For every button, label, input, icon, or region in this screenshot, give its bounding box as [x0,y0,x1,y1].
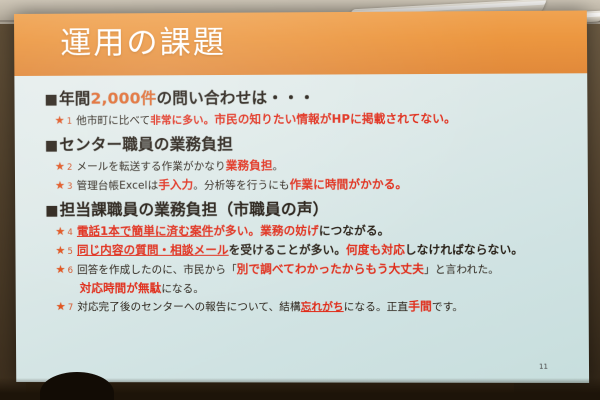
list-item: ★ 1 他市町に比べて非常に多い。市民の知りたい情報がHPに掲載されてない。 [55,110,578,130]
text-run-emphasis: 別で調べてわかったからもう大丈夫 [237,262,424,276]
text-run: につながる。 [319,223,390,237]
heading-part: 担当課職員の業務負担（市職員の声） [60,200,329,219]
bullet-index: 2 [67,160,73,176]
text-run-emphasis: 対応時間が無駄 [80,281,162,295]
bullet-index: 6 [68,263,74,279]
text-run: 対応完了後のセンターへの報告について、結構 [77,301,300,313]
text-run: 回答を作成したのに、市民から「 [77,264,237,276]
square-bullet-icon: ■ [44,92,58,108]
text-run-emphasis: 手間 [408,299,432,313]
bullet-text: 管理台帳Excelは手入力。分析等を行うにも作業に時間がかかる。 [77,176,408,194]
square-bullet-icon: ■ [45,138,59,154]
list-item: ★ 4 電話1本で簡単に済む案件が多い。業務の妨げにつながる。 [55,222,578,241]
star-icon: ★ [55,243,65,259]
text-run-emphasis: が多い。 [213,224,260,238]
star-icon: ★ [56,262,66,278]
section-heading: ■担当課職員の業務負担（市職員の声） [45,198,578,222]
bullet-text: 同じ内容の質問・相談メールを受けることが多い。何度も対応しなければならない。 [77,241,523,258]
text-run: しなければならない。 [405,242,523,256]
list-item: ★ 2 メールを転送する作業がかなり業務負担。 [55,156,578,176]
star-icon: ★ [55,159,65,175]
list-item: ★ 5 同じ内容の質問・相談メールを受けることが多い。何度も対応しなければならな… [55,241,578,260]
list-item: ★ 7 対応完了後のセンターへの報告について、結構忘れがちになる。正直手間です。 [56,298,579,316]
text-run-emphasis: 手入力 [158,178,193,192]
text-run: 」と言われた。 [424,264,499,276]
list-item-continuation: 対応時間が無駄になる。 [80,280,579,297]
text-run-emphasis: 何度も対応 [346,243,405,257]
heading-part: センター職員の業務負担 [59,135,233,154]
bullet-index: 1 [67,114,73,130]
list-item: ★ 6 回答を作成したのに、市民から「別で調べてわかったからもう大丈夫」と言われ… [56,261,579,279]
section-heading: ■センター職員の業務負担 [45,132,578,157]
star-icon: ★ [56,299,66,315]
text-run-emphasis: 市民の知りたい情報がHPに掲載されてない。 [214,111,456,126]
bullet-text: 他市町に比べて非常に多い。市民の知りたい情報がHPに掲載されてない。 [76,110,456,129]
section-heading: ■年間2,000件の問い合わせは・・・ [44,85,577,110]
text-run: を受けることが多い。 [229,243,346,257]
slide-body: 運用の課題 ■年間2,000件の問い合わせは・・・ ★ 1 他市町に比べて非常に… [14,11,589,384]
text-run-emphasis: 業務負担 [226,158,273,172]
text-run-emphasis: 業務の妨げ [260,224,319,238]
bullet-text: 回答を作成したのに、市民から「別で調べてわかったからもう大丈夫」と言われた。 [77,261,499,278]
heading-part: の問い合わせは・・・ [156,89,315,108]
text-run-underlined: 忘れがち [301,301,344,313]
photo-of-projected-slide: 運用の課題 ■年間2,000件の問い合わせは・・・ ★ 1 他市町に比べて非常に… [0,0,600,400]
text-run-underlined: 同じ内容の質問・相談メール [77,243,229,257]
star-icon: ★ [55,178,65,194]
page-number: 11 [539,363,548,371]
text-run: になる。 [161,283,204,295]
text-run: です。 [432,301,463,313]
bullet-text: メールを転送する作業がかなり業務負担。 [76,157,283,175]
bullet-index: 3 [67,179,73,195]
heading-part: 年間 [59,90,91,108]
bullet-index: 4 [67,225,73,241]
star-icon: ★ [55,224,65,240]
page-title: 運用の課題 [60,23,226,64]
square-bullet-icon: ■ [45,203,59,219]
bullet-index: 5 [67,244,73,260]
text-run-emphasis: 非常に多い。 [150,114,214,126]
text-run: メールを転送する作業がかなり [76,160,225,172]
text-run-underlined: 電話1本で簡単に済む案件 [77,224,214,238]
text-run: 管理台帳Excelは [77,180,159,192]
star-icon: ★ [55,113,65,129]
bullet-text: 対応完了後のセンターへの報告について、結構忘れがちになる。正直手間です。 [77,298,463,315]
slide-content: ■年間2,000件の問い合わせは・・・ ★ 1 他市町に比べて非常に多い。市民の… [14,73,589,383]
heading-part-highlight: 2,000件 [90,89,156,107]
text-run: 他市町に比べて [76,114,150,126]
projection-screen: 運用の課題 ■年間2,000件の問い合わせは・・・ ★ 1 他市町に比べて非常に… [14,11,589,384]
bullet-index: 7 [68,300,74,316]
text-run: 。 [273,160,284,172]
bullet-text: 電話1本で簡単に済む案件が多い。業務の妨げにつながる。 [77,222,390,239]
list-item: ★ 3 管理台帳Excelは手入力。分析等を行うにも作業に時間がかかる。 [55,176,578,195]
text-run: になる。正直 [344,301,409,313]
text-run-emphasis: 作業に時間がかかる。 [290,177,408,191]
text-run: 。分析等を行うにも [193,179,289,191]
